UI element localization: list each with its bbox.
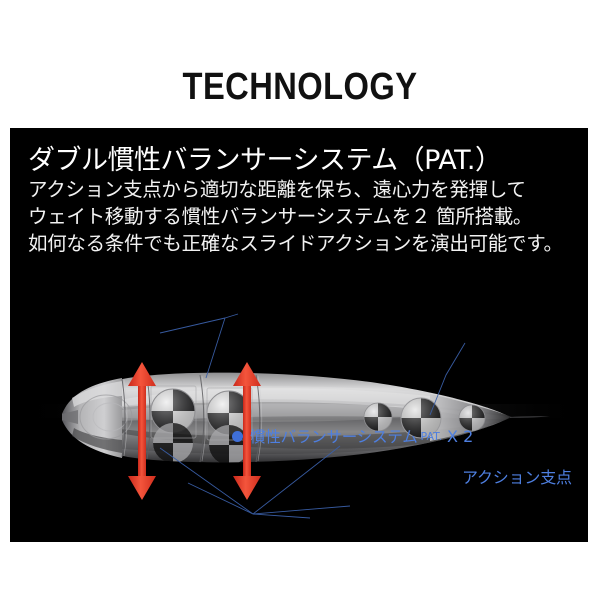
page-root: TECHNOLOGY <box>0 0 600 600</box>
body-line-2: ウェイト移動する慣性バランサーシステムを２ 箇所搭載。 <box>28 203 573 230</box>
lure-head <box>62 378 132 458</box>
body-line-1: アクション支点から適切な距離を保ち、遠心力を発揮して <box>28 176 573 203</box>
annotation-label: アクション支点 <box>462 464 572 488</box>
annotation-action-fulcrum: アクション支点 <box>462 464 572 488</box>
page-title: TECHNOLOGY <box>42 66 558 109</box>
technology-panel: ダブル慣性バランサーシステム（PAT.） アクション支点から適切な距離を保ち、遠… <box>10 128 588 542</box>
bullet-dot-icon <box>232 431 243 442</box>
annotation-pat-mark: PAT. <box>421 430 443 443</box>
annotation-inertia-balancer: 慣性バランサーシステム PAT. X 2 <box>232 425 473 447</box>
annotation-multiplier: X 2 <box>447 427 473 446</box>
panel-body-text: アクション支点から適切な距離を保ち、遠心力を発揮して ウェイト移動する慣性バラン… <box>28 176 573 257</box>
lure-body <box>30 373 550 463</box>
annotation-label: 慣性バランサーシステム <box>250 425 418 447</box>
body-line-3: 如何なる条件でも正確なスライドアクションを演出可能です。 <box>28 230 573 257</box>
leader-lines <box>160 314 465 518</box>
red-arrow-left <box>128 362 156 500</box>
panel-heading: ダブル慣性バランサーシステム（PAT.） <box>28 138 501 177</box>
